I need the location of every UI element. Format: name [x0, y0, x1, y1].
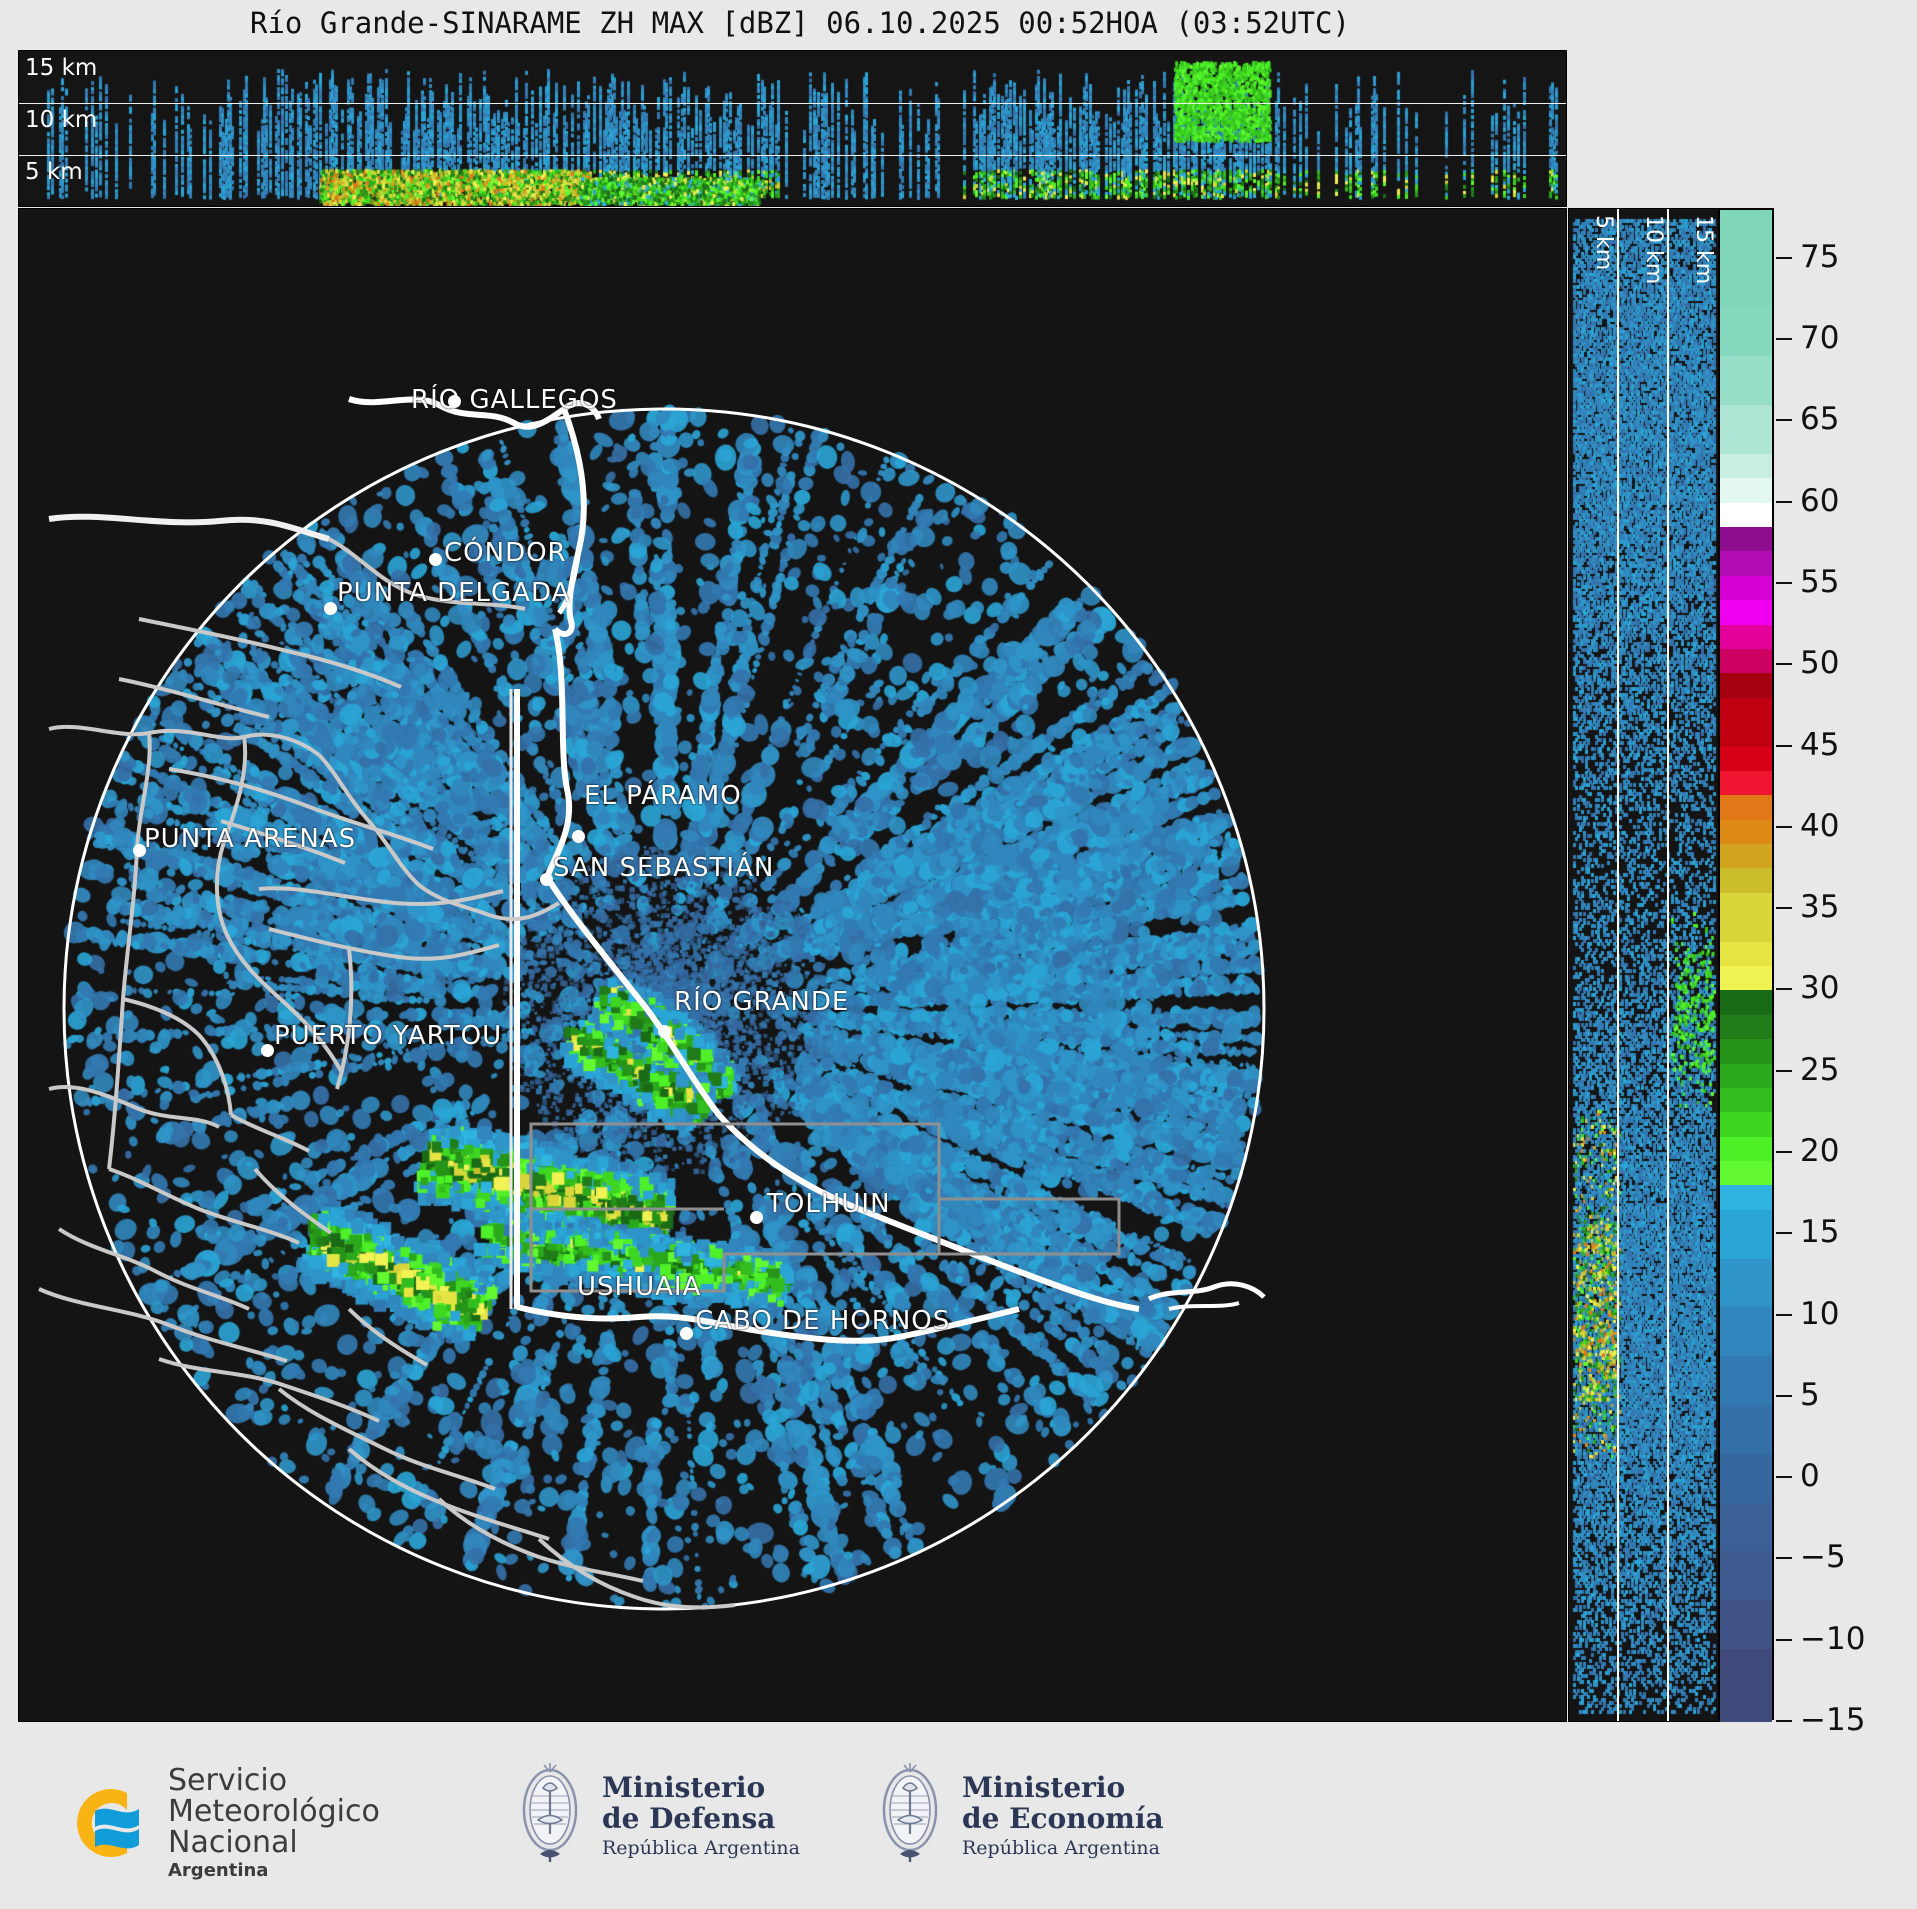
map-boundary-path: [109, 1169, 299, 1243]
colorbar-segment: [1720, 356, 1772, 405]
city-marker-dot: [750, 1211, 763, 1224]
city-marker-dot: [540, 873, 553, 886]
city-marker-dot: [133, 844, 146, 857]
city-marker-dot: [658, 1025, 671, 1038]
colorbar-segment: [1720, 1185, 1772, 1209]
top-height-label-5km: 5 km: [25, 159, 83, 185]
colorbar-tick: [1776, 419, 1792, 421]
colorbar-segment: [1720, 844, 1772, 868]
colorbar-tick-label: 40: [1800, 808, 1839, 844]
colorbar-segment: [1720, 673, 1772, 697]
city-marker-dot: [429, 553, 442, 566]
map-boundary-path: [939, 1199, 1119, 1254]
map-overlay: [19, 209, 1566, 1721]
city-label: USHUAIA: [577, 1272, 701, 1302]
colorbar-segment: [1720, 966, 1772, 990]
colorbar-segment: [1720, 1112, 1772, 1136]
colorbar-tick-label: 10: [1800, 1296, 1839, 1332]
colorbar-segment: [1720, 1454, 1772, 1503]
defensa-line-1: Ministerio: [602, 1773, 800, 1804]
economia-line-1: Ministerio: [962, 1773, 1164, 1804]
argentina-coat-of-arms-icon: [510, 1762, 590, 1870]
map-boundary-path: [269, 929, 499, 959]
economia-line-3: República Argentina: [962, 1838, 1164, 1859]
top-height-label-15km: 15 km: [25, 55, 97, 81]
map-boundary-path: [349, 1449, 549, 1539]
colorbar-segment: [1720, 1503, 1772, 1552]
colorbar-tick-label: 50: [1800, 645, 1839, 681]
colorbar-tick-label: −10: [1800, 1621, 1865, 1657]
colorbar-segment: [1720, 747, 1772, 771]
radar-plan-view-panel[interactable]: RÍO GALLEGOSCÓNDORPUNTA DELGADAEL PÁRAMO…: [18, 208, 1567, 1722]
colorbar-segment: [1720, 1039, 1772, 1063]
city-marker-dot: [680, 1327, 693, 1340]
colorbar-tick: [1776, 1639, 1792, 1641]
colorbar-segment: [1720, 820, 1772, 844]
colorbar-tick: [1776, 338, 1792, 340]
colorbar-tick: [1776, 582, 1792, 584]
map-boundary-path: [1169, 1303, 1239, 1309]
logo-smn: Servicio Meteorológico Nacional Argentin…: [55, 1765, 380, 1880]
colorbar-segment: [1720, 990, 1772, 1014]
defensa-line-3: República Argentina: [602, 1838, 800, 1859]
right-height-label-15km: 15 km: [1691, 215, 1716, 284]
colorbar-segment: [1720, 478, 1772, 502]
colorbar-segment: [1720, 210, 1772, 259]
argentina-coat-of-arms-icon: [870, 1762, 950, 1870]
colorbar-segment: [1720, 1259, 1772, 1308]
city-label: PUNTA ARENAS: [144, 824, 356, 854]
top-cross-section-panel: 15 km 10 km 5 km: [18, 50, 1567, 207]
colorbar-segment: [1720, 454, 1772, 478]
map-boundary-path: [49, 517, 329, 539]
right-cross-section-panel: 5 km 10 km 15 km: [1568, 208, 1720, 1722]
defensa-line-2: de Defensa: [602, 1804, 800, 1835]
colorbar-segment: [1720, 649, 1772, 673]
colorbar-segment: [1720, 1600, 1772, 1649]
colorbar-tick: [1776, 1395, 1792, 1397]
smn-logo-icon: [55, 1773, 160, 1873]
colorbar-segment: [1720, 868, 1772, 892]
colorbar-tick: [1776, 1232, 1792, 1234]
city-label: PUERTO YARTOU: [274, 1021, 502, 1051]
smn-line-2: Meteorológico: [168, 1796, 380, 1827]
colorbar-tick-label: 55: [1800, 564, 1839, 600]
city-marker-dot: [572, 830, 585, 843]
smn-line-1: Servicio: [168, 1765, 380, 1796]
colorbar-segment: [1720, 527, 1772, 551]
colorbar-tick: [1776, 826, 1792, 828]
colorbar-tick-label: 70: [1800, 320, 1839, 356]
colorbar-segment: [1720, 1405, 1772, 1454]
colorbar-segment: [1720, 503, 1772, 527]
colorbar-segment: [1720, 405, 1772, 454]
colorbar-tick-label: 20: [1800, 1133, 1839, 1169]
colorbar-tick-label: 75: [1800, 239, 1839, 275]
colorbar-tick: [1776, 988, 1792, 990]
map-boundary-path: [59, 1229, 249, 1309]
city-label: CABO DE HORNOS: [695, 1306, 950, 1336]
smn-line-4: Argentina: [168, 1862, 380, 1881]
map-boundary-path: [231, 1115, 309, 1151]
city-label: RÍO GRANDE: [674, 987, 849, 1017]
colorbar-segment: [1720, 698, 1772, 747]
smn-line-3: Nacional: [168, 1827, 380, 1858]
colorbar-tick: [1776, 1720, 1792, 1722]
colorbar-tick: [1776, 257, 1792, 259]
colorbar-tick: [1776, 1476, 1792, 1478]
map-boundary-path: [255, 1169, 331, 1233]
map-boundary-path: [123, 999, 231, 1115]
city-label: SAN SEBASTIÁN: [553, 853, 774, 883]
colorbar-tick: [1776, 745, 1792, 747]
colorbar-tick-label: 60: [1800, 483, 1839, 519]
radar-range-ring: [64, 409, 1264, 1609]
colorbar-gradient: [1718, 208, 1774, 1720]
colorbar-segment: [1720, 1161, 1772, 1185]
colorbar-tick-label: 15: [1800, 1214, 1839, 1250]
city-label: PUNTA DELGADA: [337, 578, 570, 608]
logo-ministerio-defensa: Ministerio de Defensa República Argentin…: [510, 1762, 800, 1870]
map-boundary-path: [259, 888, 503, 904]
city-marker-dot: [261, 1044, 274, 1057]
colorbar-segment: [1720, 1649, 1772, 1722]
colorbar-segment: [1720, 1088, 1772, 1112]
logo-ministerio-economia: Ministerio de Economía República Argenti…: [870, 1762, 1164, 1870]
footer: Servicio Meteorológico Nacional Argentin…: [0, 1740, 1917, 1909]
colorbar-tick: [1776, 1070, 1792, 1072]
city-label: RÍO GALLEGOS: [411, 385, 618, 415]
colorbar-tick: [1776, 1557, 1792, 1559]
map-boundary-path: [159, 1359, 379, 1421]
colorbar-tick-label: 35: [1800, 889, 1839, 925]
colorbar-segment: [1720, 600, 1772, 624]
map-boundary-path: [1149, 1284, 1264, 1299]
colorbar-tick-label: −5: [1800, 1539, 1846, 1575]
city-marker-dot: [324, 602, 337, 615]
colorbar-segment: [1720, 576, 1772, 600]
colorbar-tick: [1776, 1151, 1792, 1153]
map-boundary-path: [539, 1539, 735, 1607]
map-boundary-path: [39, 1289, 287, 1361]
top-height-label-10km: 10 km: [25, 107, 97, 133]
colorbar-tick: [1776, 663, 1792, 665]
colorbar-segment: [1720, 625, 1772, 649]
colorbar-tick-label: −15: [1800, 1702, 1865, 1738]
colorbar-segment: [1720, 1551, 1772, 1600]
colorbar-segment: [1720, 1307, 1772, 1356]
right-height-label-10km: 10 km: [1641, 215, 1666, 284]
colorbar-tick: [1776, 907, 1792, 909]
colorbar-segment: [1720, 1064, 1772, 1088]
colorbar-tick-label: 5: [1800, 1377, 1820, 1413]
colorbar-tick: [1776, 1314, 1792, 1316]
city-label: EL PÁRAMO: [584, 781, 742, 811]
city-label: CÓNDOR: [444, 538, 567, 568]
colorbar-segment: [1720, 1137, 1772, 1161]
colorbar-tick-label: 30: [1800, 970, 1839, 1006]
city-label: TOLHUIN: [767, 1189, 891, 1219]
colorbar-tick-label: 65: [1800, 401, 1839, 437]
city-marker-dot: [448, 395, 461, 408]
map-boundary-path: [349, 1309, 427, 1365]
colorbar-segment: [1720, 771, 1772, 795]
colorbar: 757065605550454035302520151050−5−10−15: [1718, 208, 1917, 1720]
map-boundary-path: [49, 727, 319, 755]
colorbar-segment: [1720, 308, 1772, 357]
colorbar-tick-label: 0: [1800, 1458, 1820, 1494]
map-boundary-path: [139, 619, 401, 687]
colorbar-segment: [1720, 259, 1772, 308]
colorbar-segment: [1720, 1015, 1772, 1039]
colorbar-segment: [1720, 893, 1772, 942]
colorbar-segment: [1720, 795, 1772, 819]
colorbar-tick-label: 25: [1800, 1052, 1839, 1088]
page-title: Río Grande-SINARAME ZH MAX [dBZ] 06.10.2…: [0, 6, 1600, 40]
colorbar-segment: [1720, 942, 1772, 966]
colorbar-segment: [1720, 1210, 1772, 1259]
economia-line-2: de Economía: [962, 1804, 1164, 1835]
colorbar-segment: [1720, 1356, 1772, 1405]
right-height-label-5km: 5 km: [1591, 215, 1616, 270]
colorbar-segment: [1720, 551, 1772, 575]
colorbar-tick: [1776, 501, 1792, 503]
colorbar-tick-label: 45: [1800, 727, 1839, 763]
